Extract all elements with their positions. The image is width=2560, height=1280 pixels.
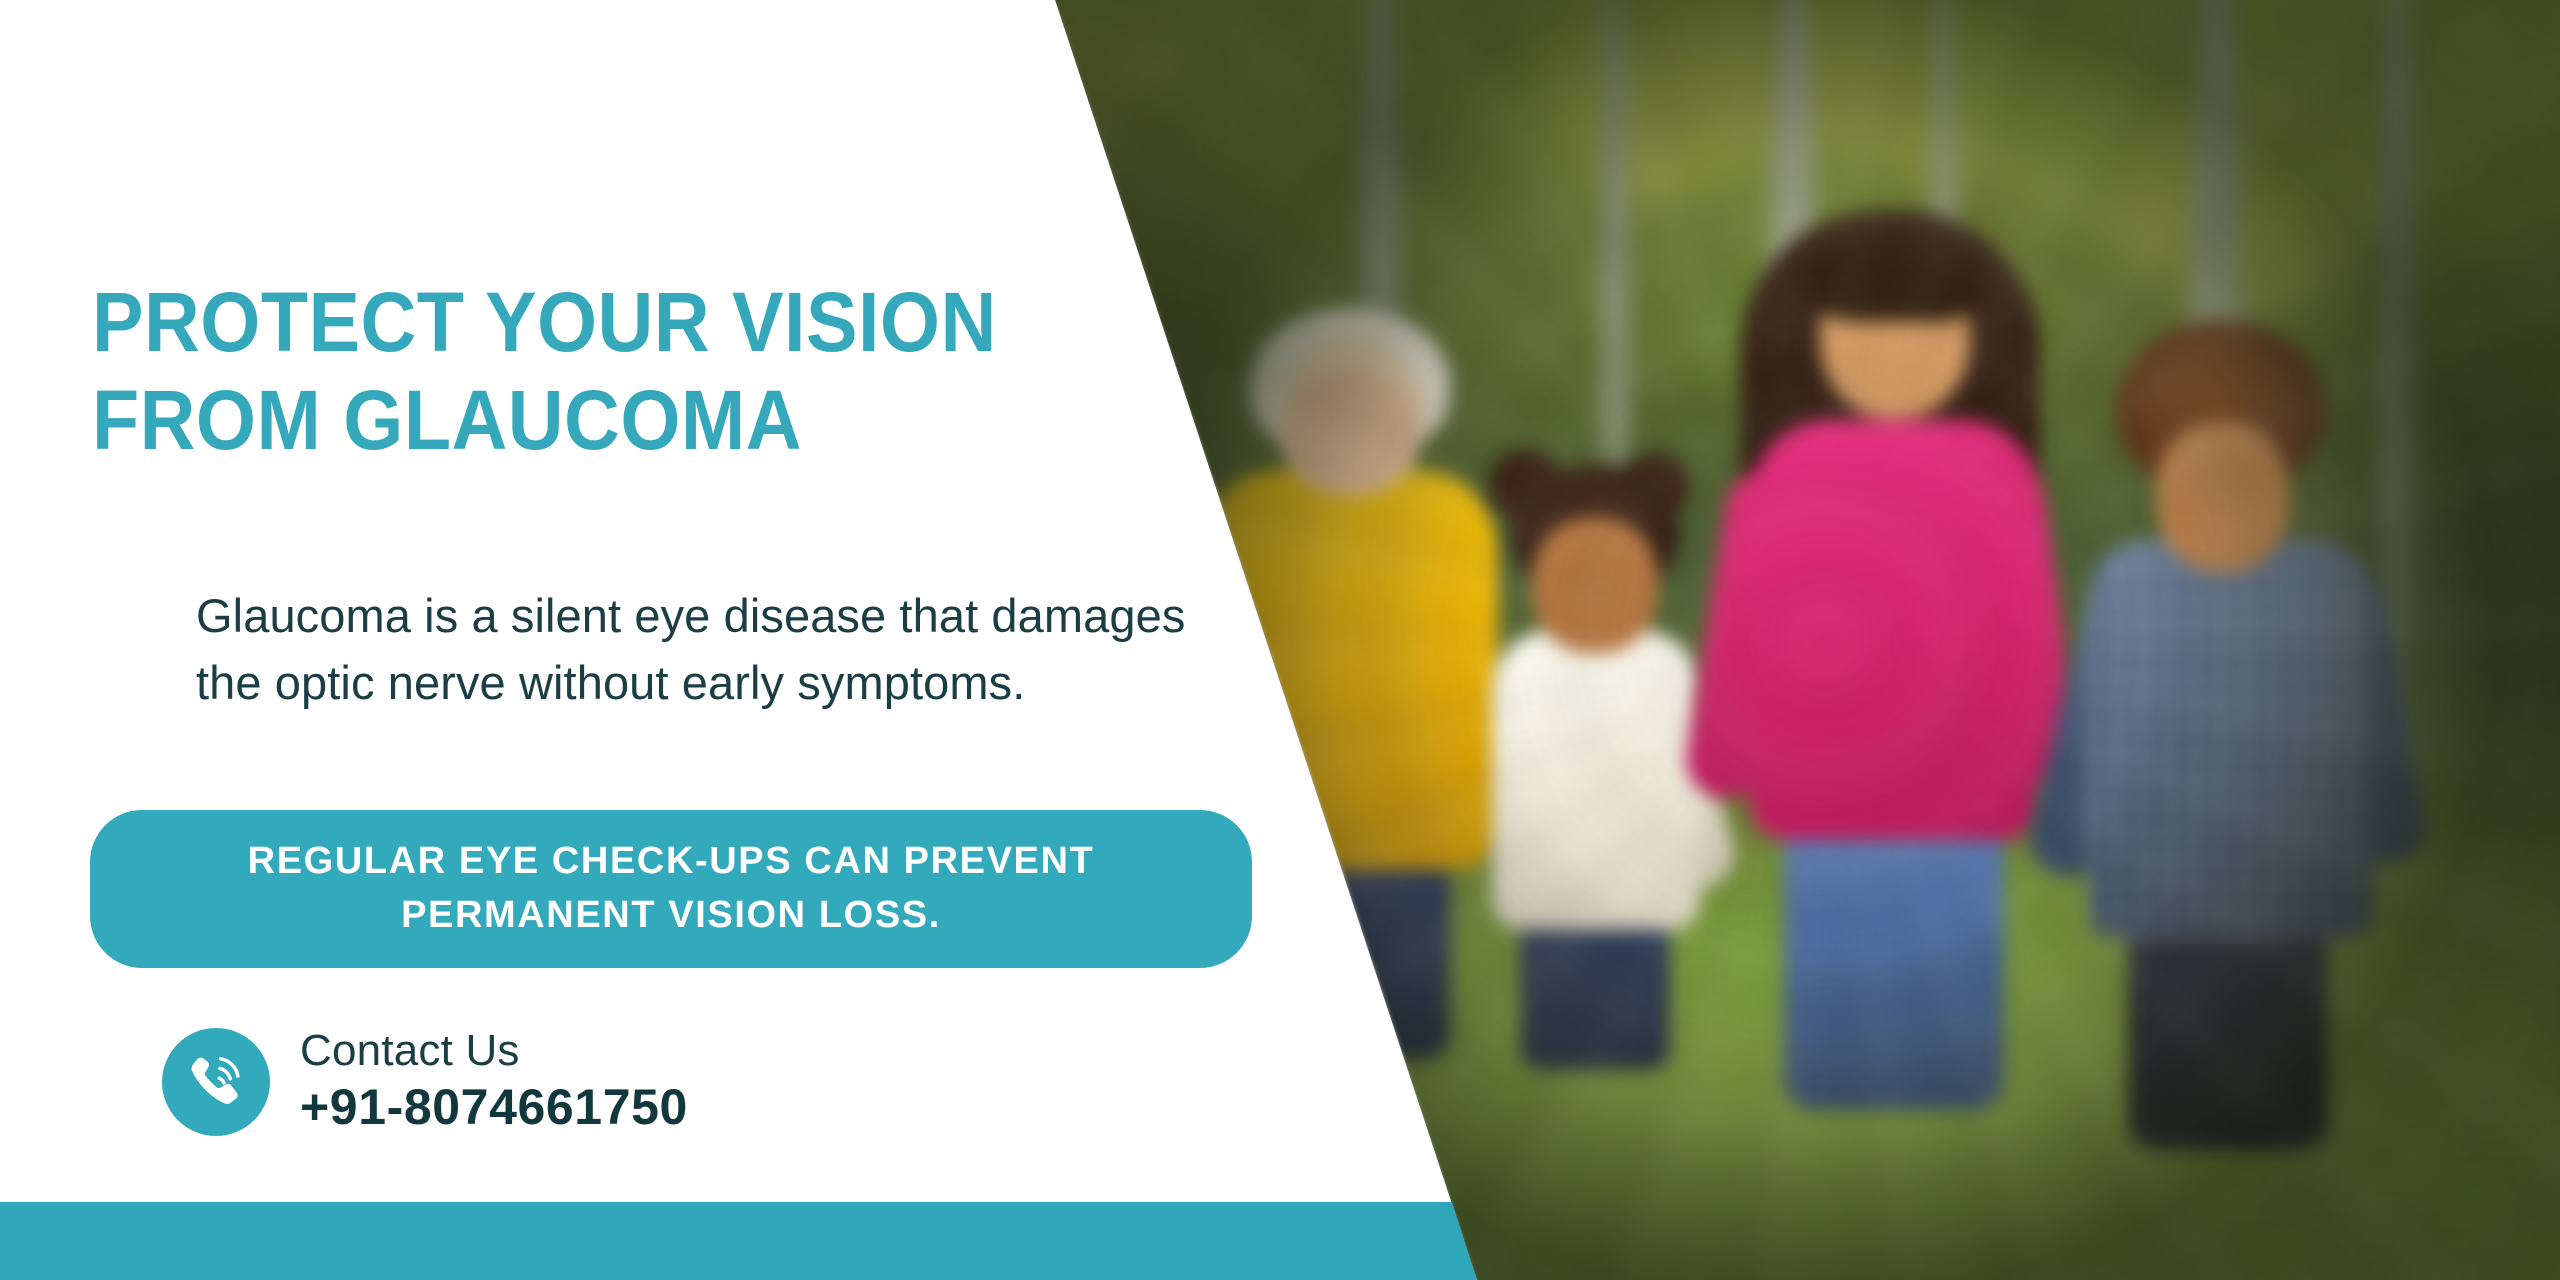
child-pink-top (1700, 200, 2080, 1100)
cta-text: REGULAR EYE CHECK-UPS CAN PREVENT PERMAN… (248, 835, 1095, 943)
cta-line-1: REGULAR EYE CHECK-UPS CAN PREVENT (248, 840, 1095, 882)
headline-line-2: FROM GLAUCOMA (92, 372, 1067, 469)
page-title: PROTECT YOUR VISION FROM GLAUCOMA (92, 274, 1067, 469)
contact-block[interactable]: Contact Us +91-8074661750 (162, 1026, 688, 1137)
contact-phone-number[interactable]: +91-8074661750 (300, 1077, 688, 1137)
foliage-blob (2120, 60, 2420, 320)
child-white-top (1470, 470, 1720, 1060)
headline-line-1: PROTECT YOUR VISION (92, 275, 997, 369)
promo-banner: PROTECT YOUR VISION FROM GLAUCOMA Glauco… (0, 0, 2560, 1280)
phone-call-icon[interactable] (162, 1028, 270, 1136)
cta-banner[interactable]: REGULAR EYE CHECK-UPS CAN PREVENT PERMAN… (90, 810, 1252, 968)
contact-details: Contact Us +91-8074661750 (300, 1026, 688, 1137)
body-copy: Glaucoma is a silent eye disease that da… (196, 583, 1256, 716)
cta-line-2: PERMANENT VISION LOSS. (248, 889, 1095, 943)
child-plaid-shirt (2070, 330, 2400, 1090)
contact-label: Contact Us (300, 1026, 688, 1075)
